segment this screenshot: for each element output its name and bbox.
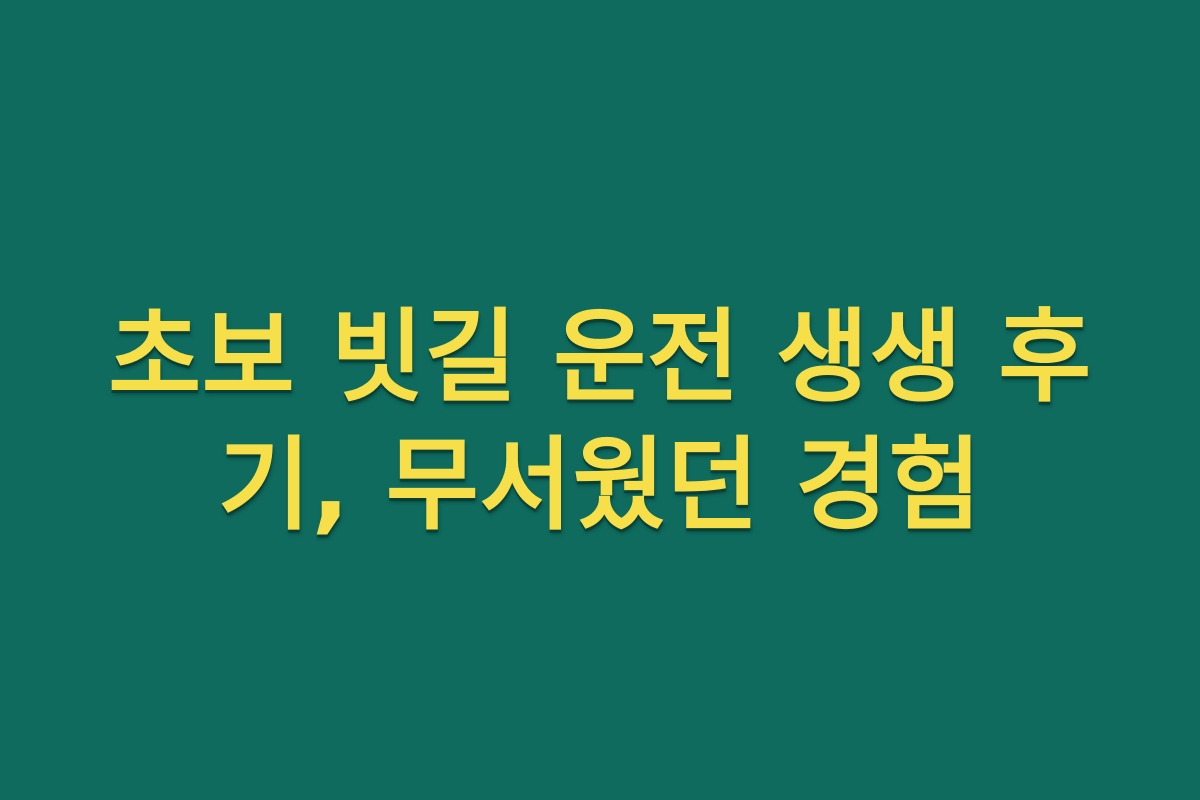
title-text-block: 초보 빗길 운전 생생 후 기, 무서웠던 경험	[95, 293, 1105, 549]
title-line-1: 초보 빗길 운전 생생 후	[95, 293, 1105, 421]
title-line-2: 기, 무서웠던 경험	[95, 421, 1105, 549]
title-card-canvas: 초보 빗길 운전 생생 후 기, 무서웠던 경험	[0, 0, 1200, 800]
